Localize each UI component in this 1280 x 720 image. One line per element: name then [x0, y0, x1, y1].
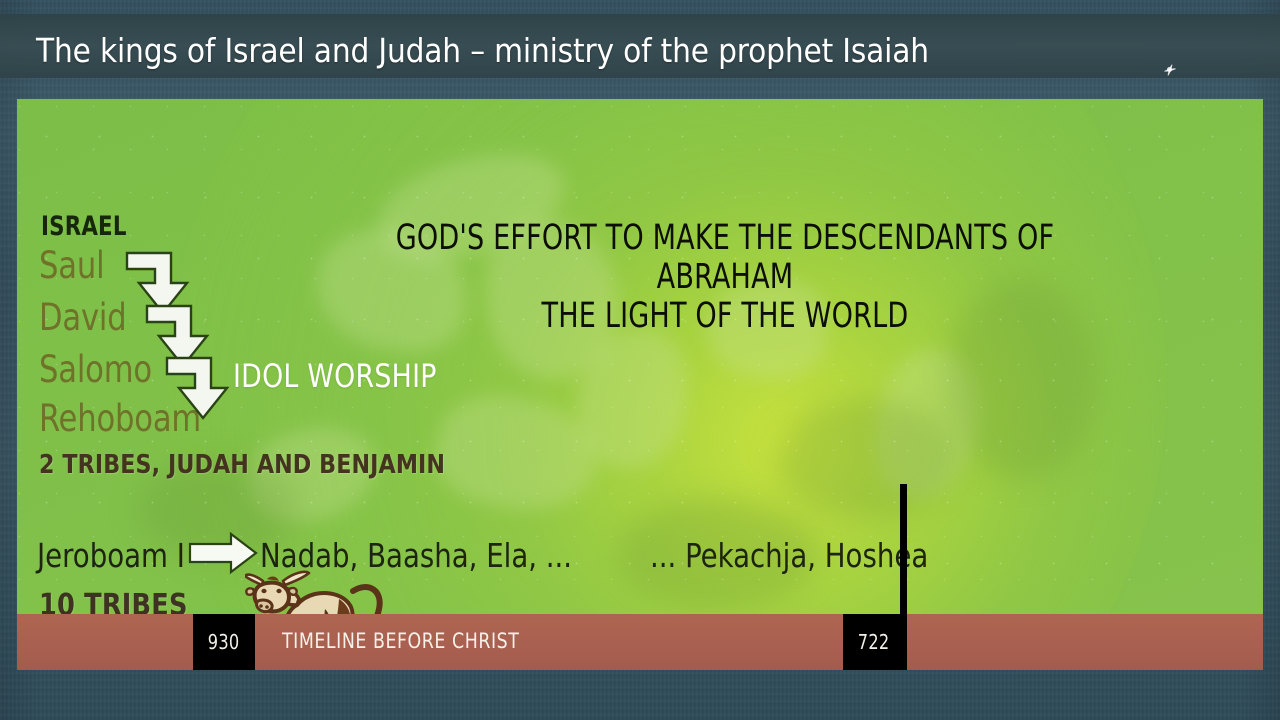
timeline-label: TIMELINE BEFORE CHRIST — [282, 629, 519, 653]
tribes-10-label: 10 TRIBES — [39, 588, 188, 614]
title-bar: The kings of Israel and Judah – ministry… — [0, 14, 1280, 78]
first-king-jeroboam: Jeroboam I — [37, 536, 185, 575]
judah-tribes-label: 2 TRIBES, JUDAH AND BENJAMIN — [39, 450, 445, 480]
timeline-marker-930[interactable]: 930 — [193, 614, 255, 670]
northern-kings-late: ... Pekachja, Hoshea — [650, 536, 928, 575]
king-name-salomo: Salomo — [39, 348, 152, 391]
timeline-marker-930-year: 930 — [208, 630, 240, 654]
timeline-marker-722[interactable]: 722 — [843, 614, 905, 670]
slide-canvas: The kings of Israel and Judah – ministry… — [0, 0, 1280, 720]
page-title: The kings of Israel and Judah – ministry… — [36, 31, 929, 70]
globe-shading — [777, 399, 957, 519]
timeline-marker-722-year: 722 — [858, 630, 890, 654]
kingdom-label-israel: ISRAEL — [41, 211, 127, 242]
paint-speck-icon — [1164, 64, 1176, 76]
headline-line-1: GOD'S EFFORT TO MAKE THE DESCENDANTS OF … — [329, 219, 1120, 297]
headline: GOD'S EFFORT TO MAKE THE DESCENDANTS OF … — [329, 219, 1120, 337]
king-name-saul: Saul — [39, 244, 104, 287]
timeline-marker-rule-722 — [900, 484, 907, 670]
elbow-arrow-down-icon-3 — [165, 354, 243, 427]
king-name-david: David — [39, 296, 127, 339]
golden-calf-bull-illustration — [245, 565, 393, 614]
content-panel: GOD'S EFFORT TO MAKE THE DESCENDANTS OF … — [17, 99, 1263, 614]
timeline-bar: 930 722 TIMELINE BEFORE CHRIST — [17, 614, 1263, 670]
headline-line-2: THE LIGHT OF THE WORLD — [329, 297, 1120, 336]
idol-worship-label: IDOL WORSHIP — [233, 357, 437, 395]
